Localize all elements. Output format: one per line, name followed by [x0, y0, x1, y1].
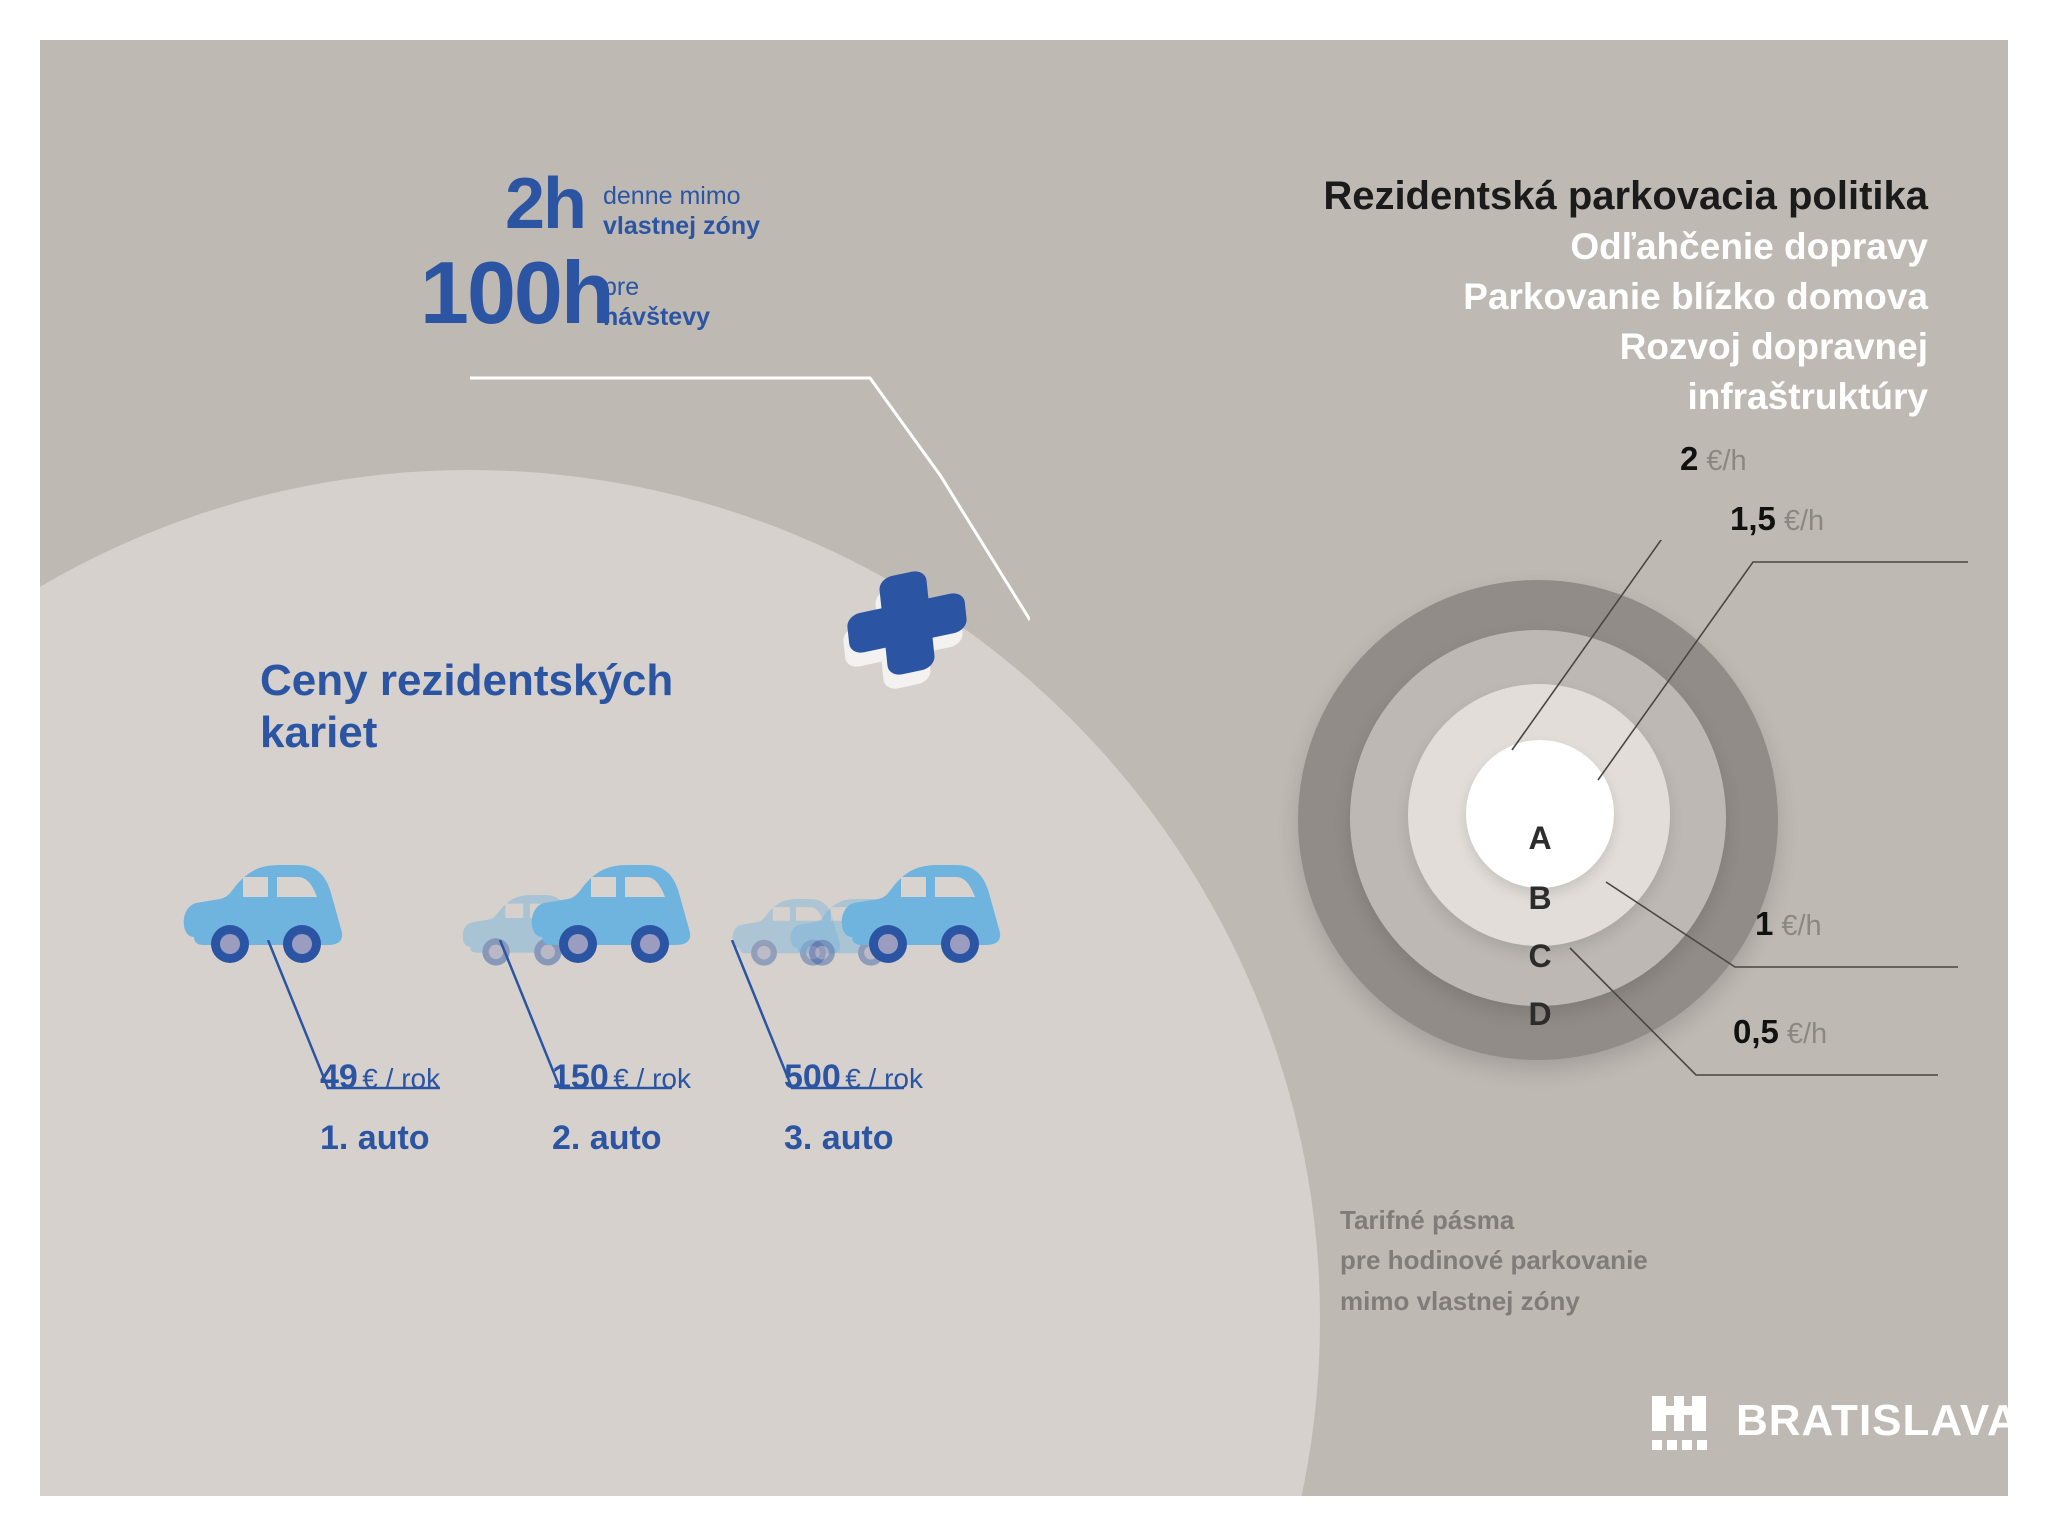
price-row-1: 49 € / rok [320, 1058, 440, 1097]
zone-leader-lines [1298, 540, 2008, 1200]
cards-title-line1: Ceny rezidentských [260, 655, 780, 707]
price-value-3: 500 [784, 1058, 841, 1096]
price-caption-2: 2. auto [552, 1119, 691, 1158]
price-value-2: 150 [552, 1058, 609, 1096]
header-block: Rezidentská parkovacia politika Odľahčen… [1028, 170, 1928, 422]
header-bullet-3: Rozvoj dopravnej [1028, 322, 1928, 372]
zone-price-a: 2€/h [1680, 440, 1747, 478]
price-unit-3: € / rok [845, 1063, 923, 1094]
bratislava-logo: BRATISLAVA [1652, 1390, 2008, 1452]
price-caption-1: 1. auto [320, 1119, 440, 1158]
header-bullet-2: Parkovanie blízko domova [1028, 272, 1928, 322]
tariff-note: Tarifné pásma pre hodinové parkovanie mi… [1340, 1200, 1648, 1321]
stat-daily-line2: vlastnej zóny [603, 212, 760, 242]
stat-row-daily: 2h denne mimo vlastnej zóny [420, 170, 980, 241]
zone-price-c: 1€/h [1755, 905, 1822, 943]
zone-price-a-unit: €/h [1706, 445, 1746, 477]
price-unit-2: € / rok [613, 1063, 691, 1094]
zone-price-b-value: 1,5 [1730, 500, 1776, 537]
zone-price-d-unit: €/h [1787, 1018, 1827, 1050]
stat-row-visits: 100h pre návštevy [420, 251, 980, 335]
price-unit-1: € / rok [362, 1063, 440, 1094]
price-value-1: 49 [320, 1058, 358, 1096]
tariff-note-line3: mimo vlastnej zóny [1340, 1281, 1648, 1321]
cards-title-line2: kariet [260, 707, 780, 759]
bratislava-logo-text: BRATISLAVA [1736, 1396, 2008, 1446]
tariff-note-line2: pre hodinové parkovanie [1340, 1240, 1648, 1280]
stat-daily-line1: denne mimo [603, 182, 760, 212]
stat-text-visits: pre návštevy [603, 251, 710, 332]
zone-price-b: 1,5€/h [1730, 500, 1824, 538]
zone-price-c-unit: €/h [1781, 910, 1821, 942]
price-row-3: 500 € / rok [784, 1058, 923, 1097]
stat-text-daily: denne mimo vlastnej zóny [603, 170, 760, 241]
tariff-note-line1: Tarifné pásma [1340, 1200, 1648, 1240]
zone-price-d: 0,5€/h [1733, 1013, 1827, 1051]
plus-cross-icon [835, 555, 995, 705]
stat-visits-line1: pre [603, 273, 710, 303]
bratislava-castle-icon [1652, 1390, 1714, 1452]
zone-price-a-value: 2 [1680, 440, 1698, 477]
poster-frame: 2h denne mimo vlastnej zóny 100h pre náv… [40, 40, 2008, 1496]
stat-number-100h: 100h [420, 251, 585, 335]
stat-number-2h: 2h [420, 170, 585, 238]
page-title: Rezidentská parkovacia politika [1028, 170, 1928, 222]
zone-price-d-value: 0,5 [1733, 1013, 1779, 1050]
infographic-canvas: 2h denne mimo vlastnej zóny 100h pre náv… [0, 0, 2048, 1536]
header-bullet-1: Odľahčenie dopravy [1028, 222, 1928, 272]
stat-visits-line2: návštevy [603, 303, 710, 333]
header-bullet-4: infraštruktúry [1028, 372, 1928, 422]
price-block-2: 150 € / rok 2. auto [552, 1058, 691, 1158]
zone-price-b-unit: €/h [1784, 505, 1824, 537]
price-row-2: 150 € / rok [552, 1058, 691, 1097]
price-block-1: 49 € / rok 1. auto [320, 1058, 440, 1158]
price-caption-3: 3. auto [784, 1119, 923, 1158]
price-block-3: 500 € / rok 3. auto [784, 1058, 923, 1158]
time-allowance-block: 2h denne mimo vlastnej zóny 100h pre náv… [420, 170, 980, 335]
cards-section-title: Ceny rezidentských kariet [260, 655, 780, 759]
zone-price-c-value: 1 [1755, 905, 1773, 942]
